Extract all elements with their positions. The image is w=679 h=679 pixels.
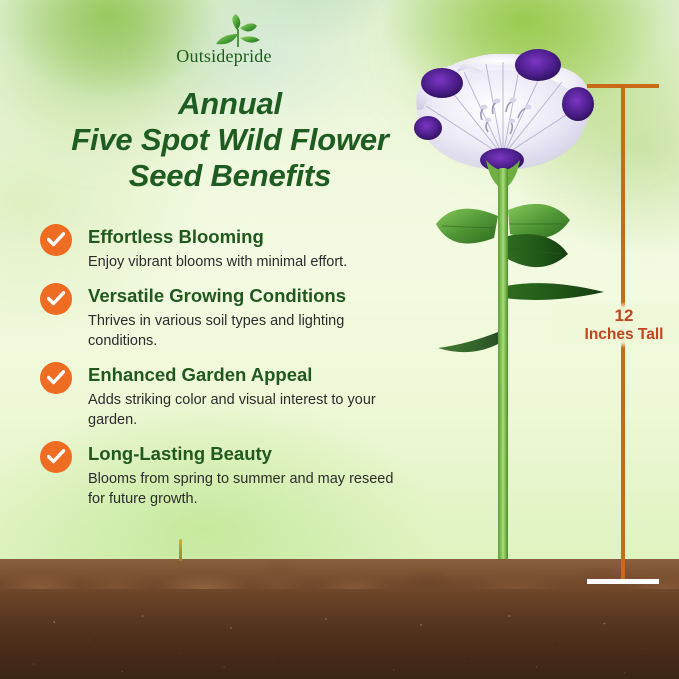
benefit-heading: Enhanced Garden Appeal: [88, 360, 412, 387]
benefit-description: Blooms from spring to summer and may res…: [88, 466, 400, 509]
leaf-sprig-icon: [212, 14, 264, 48]
brand-wordmark: Outsidepride: [164, 46, 284, 67]
benefits-list: Effortless Blooming Enjoy vibrant blooms…: [40, 222, 412, 518]
title-line-1: Annual: [18, 86, 442, 122]
measurement-label: 12 Inches Tall: [552, 302, 679, 348]
brand-logo[interactable]: Outsidepride: [164, 16, 284, 72]
benefit-description: Thrives in various soil types and lighti…: [88, 308, 400, 351]
list-item: Long-Lasting Beauty Blooms from spring t…: [40, 439, 412, 509]
check-circle-icon: [40, 224, 72, 256]
measurement-value: 12: [552, 306, 679, 325]
benefit-heading: Effortless Blooming: [88, 222, 412, 249]
title-line-2: Five Spot Wild Flower: [18, 122, 442, 158]
benefit-heading: Versatile Growing Conditions: [88, 281, 412, 308]
product-benefits-poster: Outsidepride Annual Five Spot Wild Flowe…: [0, 0, 679, 679]
list-item: Enhanced Garden Appeal Adds striking col…: [40, 360, 412, 430]
check-circle-icon: [40, 283, 72, 315]
title-line-3: Seed Benefits: [18, 158, 442, 194]
petal-spot-1: [515, 49, 561, 81]
measurement-cap-bottom: [587, 579, 659, 584]
height-measurement-indicator: 12 Inches Tall: [578, 84, 670, 584]
benefit-heading: Long-Lasting Beauty: [88, 439, 412, 466]
list-item: Versatile Growing Conditions Thrives in …: [40, 281, 412, 351]
page-title: Annual Five Spot Wild Flower Seed Benefi…: [18, 86, 442, 194]
list-item: Effortless Blooming Enjoy vibrant blooms…: [40, 222, 412, 272]
benefit-description: Enjoy vibrant blooms with minimal effort…: [88, 249, 400, 272]
measurement-unit: Inches Tall: [552, 325, 679, 344]
benefit-description: Adds striking color and visual interest …: [88, 387, 400, 430]
check-circle-icon: [40, 441, 72, 473]
check-circle-icon: [40, 362, 72, 394]
measurement-cap-top: [587, 84, 659, 88]
soil-sprout: [179, 539, 182, 561]
